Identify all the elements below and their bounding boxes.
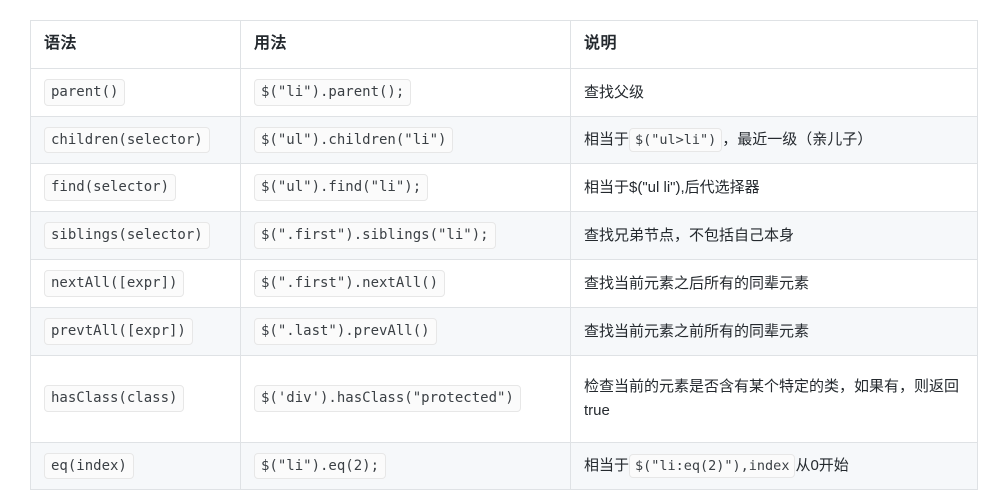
table-row: prevtAll([expr])$(".last").prevAll()查找当前…	[31, 307, 978, 355]
description-text: 查找兄弟节点，不包括自己本身	[584, 227, 794, 244]
jquery-traversal-table: 语法 用法 说明 parent()$("li").parent();查找父级ch…	[30, 20, 978, 490]
syntax-code: siblings(selector)	[44, 222, 210, 249]
description-inline-code: $("ul>li")	[629, 128, 722, 152]
cell-syntax: find(selector)	[31, 164, 241, 212]
cell-description: 相当于$("ul li"),后代选择器	[571, 164, 978, 212]
cell-syntax: siblings(selector)	[31, 212, 241, 260]
cell-description: 查找当前元素之后所有的同辈元素	[571, 259, 978, 307]
usage-code: $("li").parent();	[254, 79, 411, 106]
usage-code: $(".first").siblings("li");	[254, 222, 496, 249]
syntax-code: parent()	[44, 79, 125, 106]
usage-code: $('div').hasClass("protected")	[254, 385, 521, 412]
cell-syntax: eq(index)	[31, 442, 241, 490]
cell-usage: $('div').hasClass("protected")	[241, 355, 571, 442]
description-text: ，最近一级（亲儿子）	[722, 131, 872, 148]
cell-usage: $("li").parent();	[241, 68, 571, 116]
cell-description: 检查当前的元素是否含有某个特定的类，如果有，则返回true	[571, 355, 978, 442]
table-row: parent()$("li").parent();查找父级	[31, 68, 978, 116]
table-row: children(selector)$("ul").children("li")…	[31, 116, 978, 164]
page-container: 语法 用法 说明 parent()$("li").parent();查找父级ch…	[0, 0, 1002, 471]
table-body: parent()$("li").parent();查找父级children(se…	[31, 68, 978, 490]
description-inline-code: $("li:eq(2)"),index	[629, 454, 795, 478]
table-row: find(selector)$("ul").find("li");相当于$("u…	[31, 164, 978, 212]
description-text: 查找当前元素之前所有的同辈元素	[584, 323, 809, 340]
table-row: siblings(selector)$(".first").siblings("…	[31, 212, 978, 260]
table-row: eq(index)$("li").eq(2);相当于$("li:eq(2)"),…	[31, 442, 978, 490]
usage-code: $("ul").find("li");	[254, 174, 428, 201]
syntax-code: eq(index)	[44, 453, 134, 480]
description-text: 查找父级	[584, 84, 644, 101]
table-header-row: 语法 用法 说明	[31, 21, 978, 69]
usage-code: $(".last").prevAll()	[254, 318, 437, 345]
description-text: 相当于	[584, 457, 629, 474]
table-header: 语法 用法 说明	[31, 21, 978, 69]
description-text: 检查当前的元素是否含有某个特定的类，如果有，则返回true	[584, 378, 959, 418]
syntax-code: hasClass(class)	[44, 385, 184, 412]
cell-usage: $("ul").children("li")	[241, 116, 571, 164]
cell-syntax: nextAll([expr])	[31, 259, 241, 307]
cell-syntax: hasClass(class)	[31, 355, 241, 442]
column-header-description: 说明	[571, 21, 978, 69]
column-header-usage: 用法	[241, 21, 571, 69]
cell-usage: $(".first").siblings("li");	[241, 212, 571, 260]
syntax-code: prevtAll([expr])	[44, 318, 193, 345]
cell-usage: $("li").eq(2);	[241, 442, 571, 490]
cell-syntax: prevtAll([expr])	[31, 307, 241, 355]
table-row: hasClass(class)$('div').hasClass("protec…	[31, 355, 978, 442]
cell-description: 查找当前元素之前所有的同辈元素	[571, 307, 978, 355]
cell-usage: $(".first").nextAll()	[241, 259, 571, 307]
cell-description: 查找兄弟节点，不包括自己本身	[571, 212, 978, 260]
column-header-syntax: 语法	[31, 21, 241, 69]
description-text: 相当于$("ul li"),后代选择器	[584, 179, 760, 196]
usage-code: $("ul").children("li")	[254, 127, 453, 154]
cell-usage: $(".last").prevAll()	[241, 307, 571, 355]
description-text: 从0开始	[795, 457, 848, 474]
description-text: 查找当前元素之后所有的同辈元素	[584, 275, 809, 292]
syntax-code: nextAll([expr])	[44, 270, 184, 297]
cell-description: 相当于$("li:eq(2)"),index从0开始	[571, 442, 978, 490]
usage-code: $("li").eq(2);	[254, 453, 386, 480]
cell-syntax: children(selector)	[31, 116, 241, 164]
description-text: 相当于	[584, 131, 629, 148]
syntax-code: find(selector)	[44, 174, 176, 201]
cell-syntax: parent()	[31, 68, 241, 116]
cell-usage: $("ul").find("li");	[241, 164, 571, 212]
table-row: nextAll([expr])$(".first").nextAll()查找当前…	[31, 259, 978, 307]
syntax-code: children(selector)	[44, 127, 210, 154]
cell-description: 查找父级	[571, 68, 978, 116]
cell-description: 相当于$("ul>li")，最近一级（亲儿子）	[571, 116, 978, 164]
usage-code: $(".first").nextAll()	[254, 270, 445, 297]
